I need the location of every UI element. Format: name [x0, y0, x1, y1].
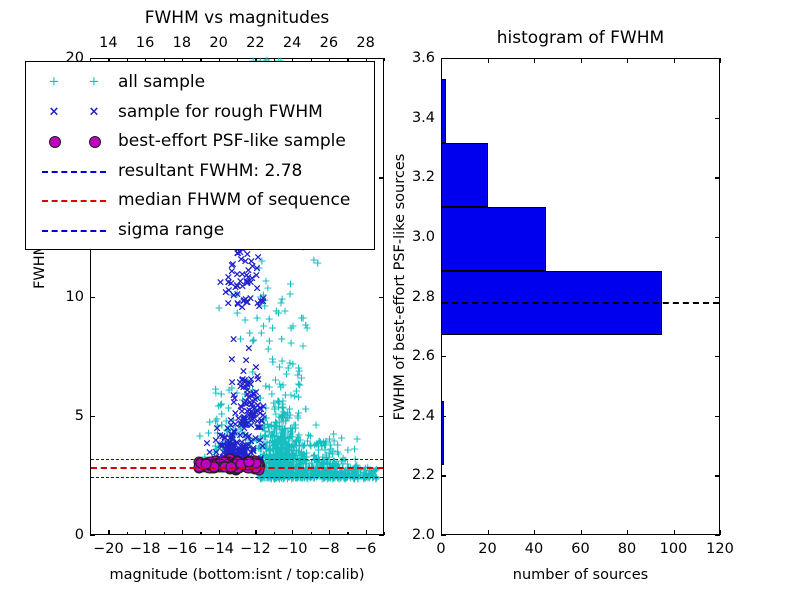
legend-plus-icon: +: [49, 76, 60, 89]
x-tick-label-bottom: −8: [318, 541, 339, 557]
hist-y-tick-mark: [441, 475, 446, 476]
x-tick-mark-bottom: [329, 530, 330, 535]
hist-y-tick-mark: [441, 356, 446, 357]
y-tick-mark-left: [90, 297, 95, 298]
x-tick-label-bottom: −10: [277, 541, 308, 557]
y-tick-mark-left: [90, 535, 95, 536]
hist-y-tick-label: 3.6: [389, 50, 435, 66]
legend-item[interactable]: sigma range: [32, 216, 370, 244]
hist-x-tick-label: 40: [525, 541, 543, 557]
histogram-bar: [441, 79, 446, 143]
hist-x-tick-mark: [488, 530, 489, 535]
x-tick-mark-bottom: [255, 530, 256, 535]
y-tick-mark-right: [379, 416, 384, 417]
hist-x-tick-label: 100: [660, 541, 688, 557]
hist-y-tick-mark-right: [715, 237, 720, 238]
legend-handle: ××: [32, 98, 118, 126]
x-tick-label-bottom: −6: [355, 541, 376, 557]
hist-y-tick-mark: [441, 58, 446, 59]
legend-item[interactable]: ××sample for rough FWHM: [32, 98, 370, 126]
x-tick-label-top: 28: [356, 35, 374, 51]
x-tick-label-top: 16: [136, 35, 154, 51]
legend-item[interactable]: resultant FWHM: 2.78: [32, 157, 370, 185]
x-tick-minor-bottom: [311, 532, 312, 535]
x-tick-label-top: 22: [246, 35, 264, 51]
hist-x-tick-mark-top: [720, 58, 721, 63]
x-tick-minor-top: [384, 58, 385, 61]
right-plot-title: histogram of FWHM: [391, 28, 770, 48]
legend-handle: [32, 186, 118, 214]
hist-y-tick-mark-right: [715, 416, 720, 417]
legend-item-label: all sample: [118, 68, 205, 96]
hist-x-tick-mark-top: [488, 58, 489, 63]
hist-x-tick-label: 20: [478, 541, 496, 557]
histogram-bar: [441, 143, 488, 207]
hist-x-tick-mark: [581, 530, 582, 535]
hist-x-tick-label: 60: [571, 541, 589, 557]
hist-y-tick-mark-right: [715, 475, 720, 476]
x-tick-label-bottom: −18: [130, 541, 161, 557]
hist-x-tick-mark: [627, 530, 628, 535]
histogram-bar: [441, 401, 444, 465]
legend-dashed-line-icon: [42, 171, 106, 173]
hist-y-tick-mark: [441, 535, 446, 536]
legend-item-label: sample for rough FWHM: [118, 98, 323, 126]
hist-x-tick-mark-top: [534, 58, 535, 63]
legend-dot-icon: [89, 136, 101, 148]
legend-cross-icon: ×: [49, 105, 60, 118]
x-tick-label-top: 20: [209, 35, 227, 51]
x-tick-mark-bottom: [108, 530, 109, 535]
legend-cross-icon: ×: [89, 105, 100, 118]
hist-y-tick-mark-right: [715, 177, 720, 178]
hist-y-tick-mark-right: [715, 356, 720, 357]
histogram-bar: [441, 207, 546, 271]
x-tick-mark-bottom: [219, 530, 220, 535]
x-tick-mark-bottom: [366, 530, 367, 535]
x-tick-mark-bottom: [145, 530, 146, 535]
y-tick-label-left: 5: [44, 408, 84, 424]
hist-x-tick-mark: [534, 530, 535, 535]
x-tick-mark-bottom: [182, 530, 183, 535]
hist-x-tick-mark: [720, 530, 721, 535]
legend-handle: [32, 157, 118, 185]
x-tick-minor-bottom: [384, 532, 385, 535]
hist-ylabel: FWHM of best-effort PSF-like sources: [392, 117, 408, 457]
x-tick-minor-bottom: [200, 532, 201, 535]
hist-y-tick-mark-right: [715, 58, 720, 59]
legend-item-label: median FHWM of sequence: [118, 186, 350, 214]
left-xlabel: magnitude (bottom:isnt / top:calib): [30, 567, 444, 583]
x-tick-label-top: 24: [283, 35, 301, 51]
x-tick-label-bottom: −16: [167, 541, 198, 557]
legend-dashed-line-icon: [42, 200, 106, 202]
hist-x-tick-label: 80: [618, 541, 636, 557]
median-fhwm-line: [91, 467, 383, 469]
hist-y-tick-mark-right: [715, 535, 720, 536]
figure-canvas: FWHM vs magnitudes−20−18−16−14−12−10−8−6…: [0, 0, 800, 600]
x-tick-minor-bottom: [237, 532, 238, 535]
x-tick-minor-bottom: [164, 532, 165, 535]
x-tick-minor-bottom: [274, 532, 275, 535]
sigma-range-upper-line: [91, 459, 383, 460]
hist-x-tick-mark-top: [674, 58, 675, 63]
hist-x-tick-label: 120: [706, 541, 734, 557]
y-tick-label-left: 0: [44, 527, 84, 543]
legend-handle: [32, 127, 118, 155]
hist-x-tick-mark-top: [627, 58, 628, 63]
x-tick-label-top: 26: [320, 35, 338, 51]
y-tick-mark-left: [90, 416, 95, 417]
x-tick-mark-bottom: [292, 530, 293, 535]
hist-x-tick-mark-top: [581, 58, 582, 63]
legend-dashdot-line-icon: [42, 230, 106, 232]
hist-x-tick-mark: [674, 530, 675, 535]
x-tick-minor-bottom: [127, 532, 128, 535]
hist-y-tick-label: 2.0: [389, 527, 435, 543]
legend-item-label: resultant FWHM: 2.78: [118, 157, 302, 185]
x-tick-label-bottom: −20: [93, 541, 124, 557]
y-tick-label-left: 10: [44, 289, 84, 305]
hist-y-tick-mark-right: [715, 297, 720, 298]
legend-box: ++all sample××sample for rough FWHMbest-…: [25, 61, 375, 250]
legend-item-label: best-effort PSF-like sample: [118, 127, 346, 155]
hist-xlabel: number of sources: [391, 567, 770, 583]
x-tick-label-bottom: −14: [203, 541, 234, 557]
legend-item[interactable]: ++all sample: [32, 68, 370, 96]
legend-plus-icon: +: [89, 76, 100, 89]
hist-resultant-fwhm-line: [442, 302, 719, 304]
legend-item[interactable]: best-effort PSF-like sample: [32, 127, 370, 155]
y-tick-mark-right: [379, 58, 384, 59]
left-plot-title: FWHM vs magnitudes: [30, 8, 444, 28]
y-tick-mark-right: [379, 297, 384, 298]
x-tick-minor-bottom: [347, 532, 348, 535]
hist-y-tick-label: 2.2: [389, 467, 435, 483]
x-tick-label-top: 18: [173, 35, 191, 51]
y-tick-mark-right: [379, 177, 384, 178]
legend-dot-icon: [49, 136, 61, 148]
x-tick-label-top: 14: [99, 35, 117, 51]
legend-handle: [32, 216, 118, 244]
y-tick-mark-right: [379, 535, 384, 536]
y-tick-mark-left: [90, 58, 95, 59]
legend-handle: ++: [32, 68, 118, 96]
hist-x-tick-label: 0: [436, 541, 445, 557]
hist-y-tick-mark-right: [715, 118, 720, 119]
legend-item[interactable]: median FHWM of sequence: [32, 186, 370, 214]
sigma-range-lower-line: [91, 477, 383, 478]
x-tick-label-bottom: −12: [240, 541, 271, 557]
legend-item-label: sigma range: [118, 216, 224, 244]
